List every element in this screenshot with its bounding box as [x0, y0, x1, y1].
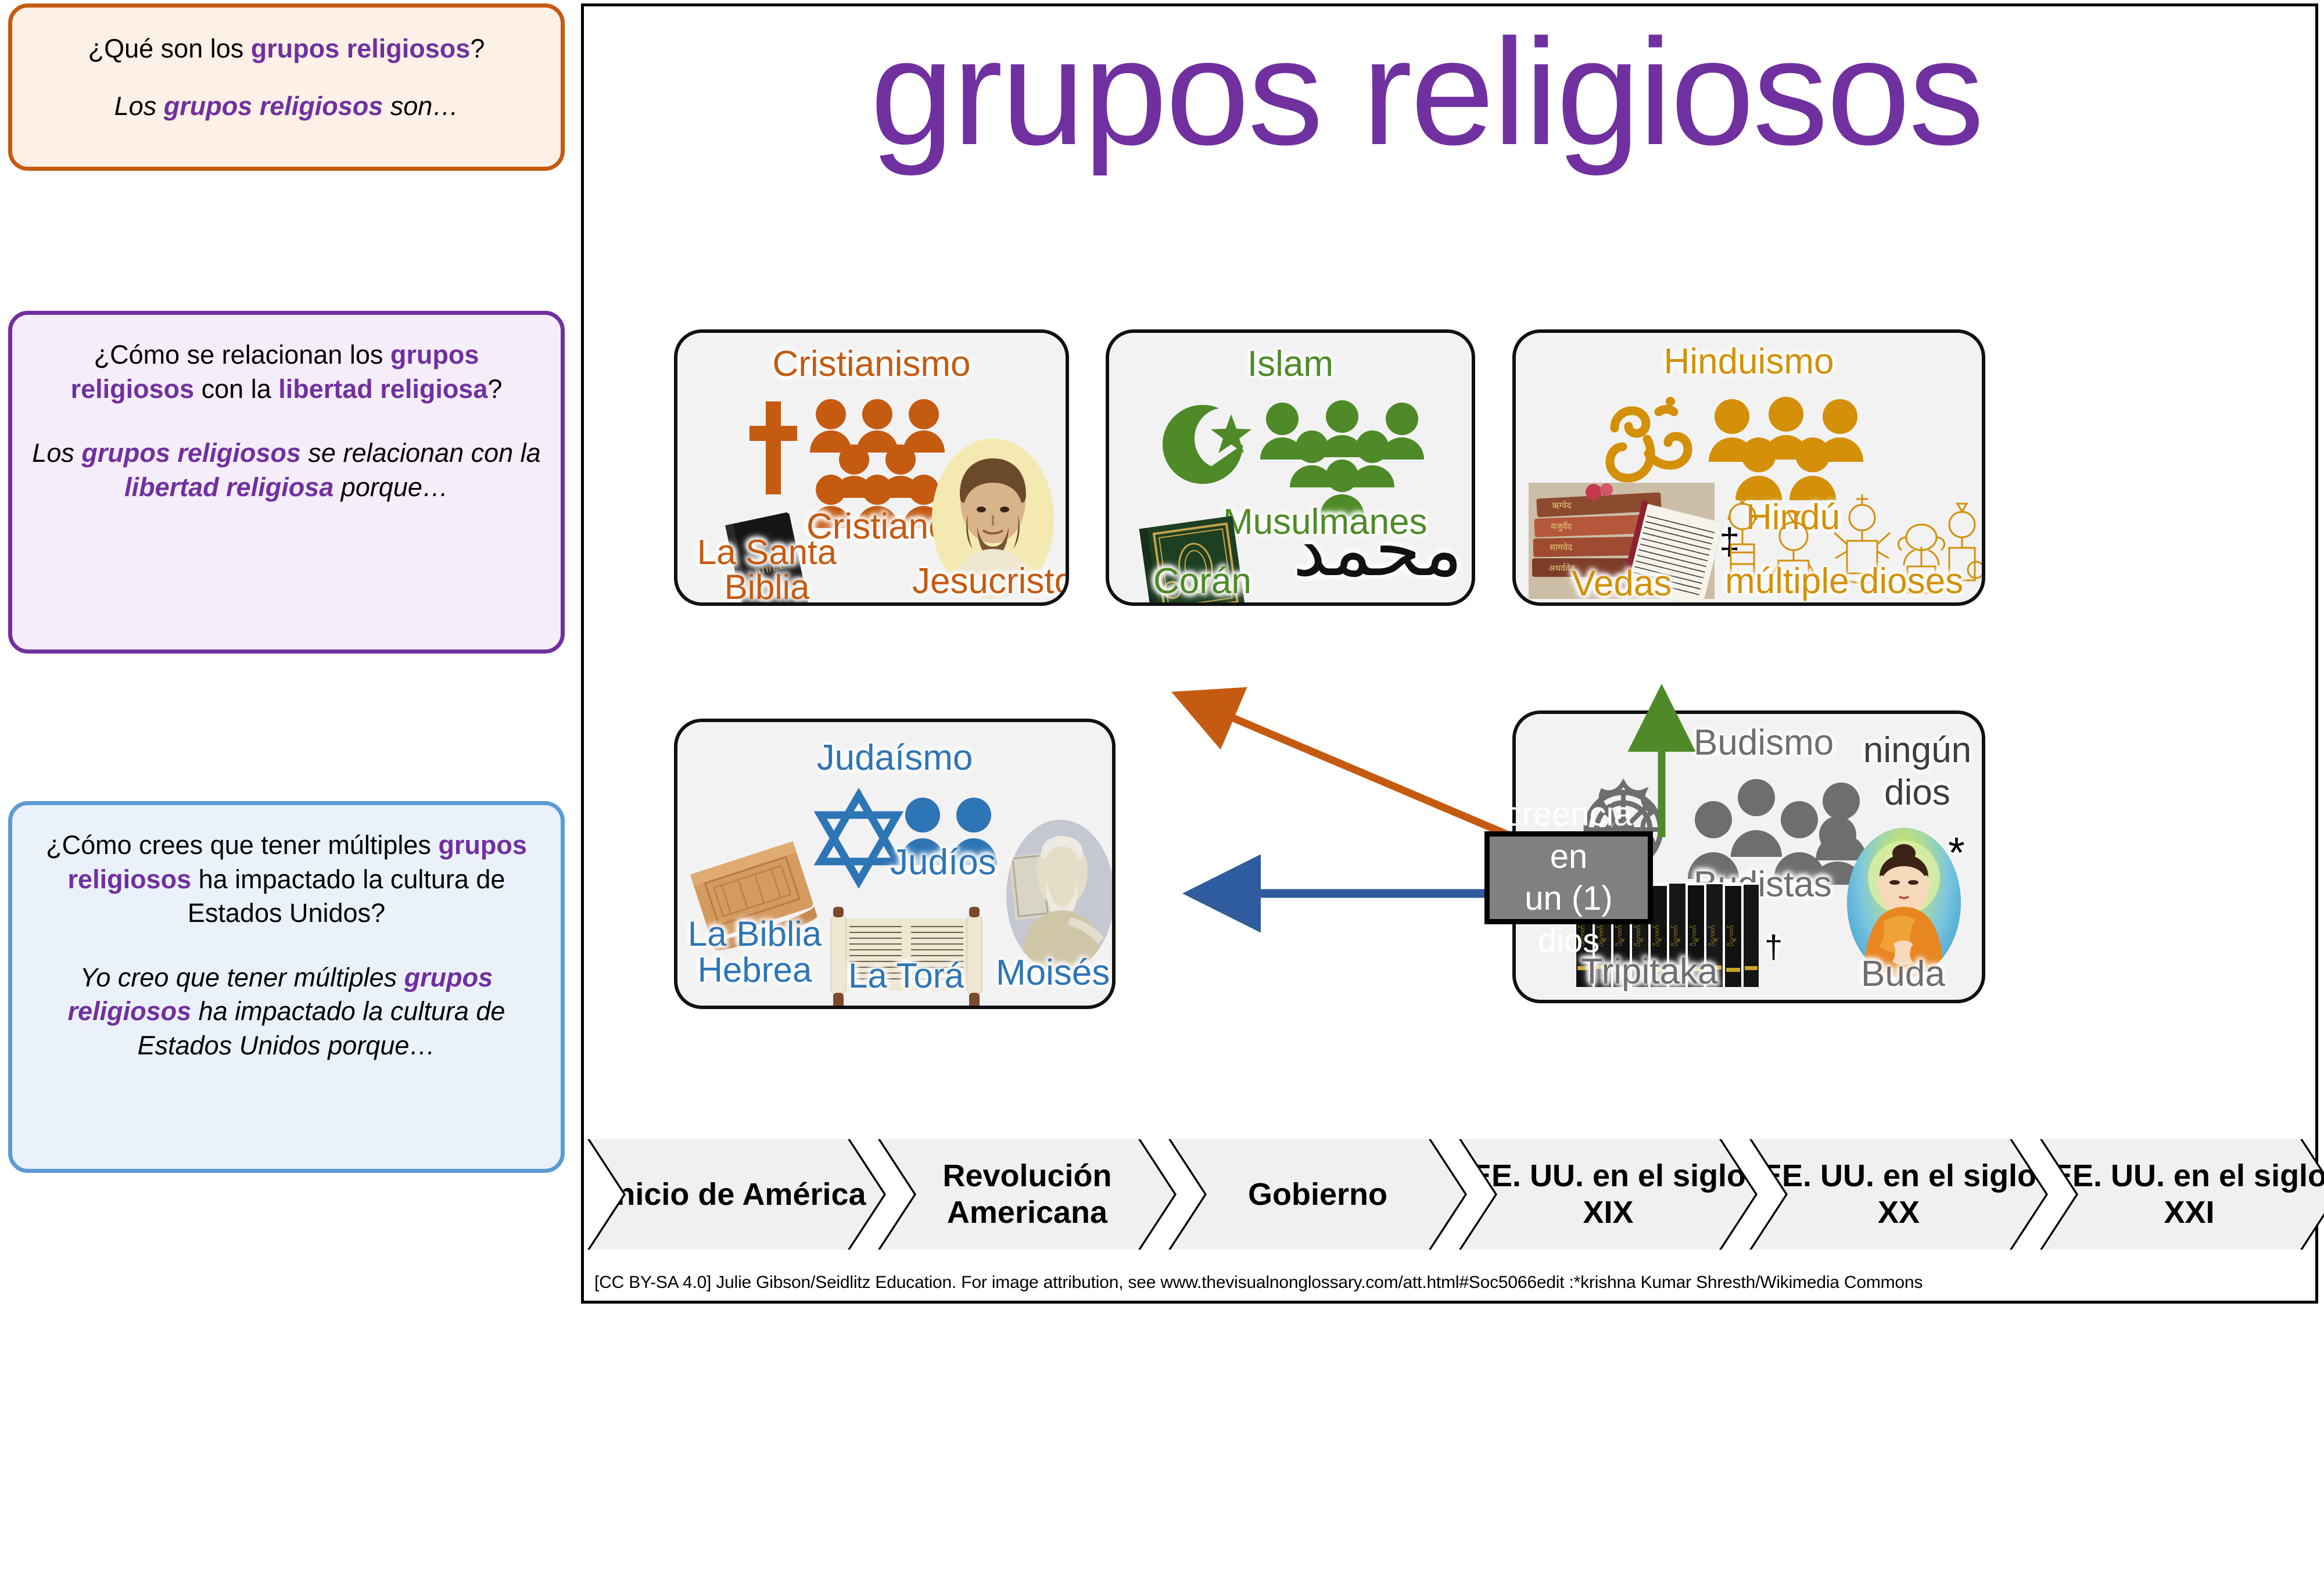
prompt-answer-stem: Los grupos religiosos son… [32, 89, 541, 124]
card-figure-label: Buda [1861, 953, 1945, 995]
a-text: Los [114, 91, 164, 121]
a-text: Los [32, 438, 81, 468]
a-text: Yo creo que tener múltiples [80, 963, 404, 992]
card-religion-label: Judaísmo [817, 737, 973, 778]
timeline-step-2[interactable]: Revolución Americana [880, 1139, 1174, 1250]
card-book-label: La Biblia Hebrea [682, 916, 827, 989]
card-judaism[interactable]: Judaísmo Judíos [674, 719, 1116, 1009]
card-hinduism[interactable]: Hinduismo [1512, 329, 1985, 606]
footnote-marker-tripitaka: † [1764, 928, 1783, 966]
spacer [32, 406, 541, 436]
callout-text: creencia en un (1) dios [1490, 794, 1648, 962]
a-term-2: libertad religiosa [124, 472, 333, 502]
svg-text:सामवेद: सामवेद [1550, 542, 1573, 552]
a-text-end: son… [383, 91, 458, 121]
timeline-step-label: EE. UU. en el siglo XIX [1461, 1158, 1755, 1230]
spacer [32, 66, 541, 89]
q-text: ¿Cómo crees que tener múltiples [46, 830, 438, 860]
card-followers-label: Judíos [890, 842, 996, 883]
card-scroll-label: La Torá [848, 956, 964, 996]
timeline-step-3[interactable]: Gobierno [1171, 1139, 1465, 1250]
card-book-label: Vedas [1572, 563, 1672, 604]
card-figure-label: Jesucristo [912, 561, 1069, 602]
timeline-step-label: Inicio de América [607, 1176, 866, 1213]
a-term-1: grupos religiosos [81, 438, 301, 468]
page-title: grupos religiosos [584, 17, 2269, 168]
card-christianity[interactable]: Cristianismo [674, 329, 1069, 606]
callout-one-god[interactable]: creencia en un (1) dios [1484, 831, 1653, 924]
star-and-crescent-icon [1163, 398, 1261, 491]
people-group-icon [1258, 401, 1426, 518]
timeline-step-label: EE. UU. en el siglo XX [1752, 1158, 2046, 1230]
timeline-step-label: Revolución Americana [880, 1158, 1174, 1230]
timeline-step-label: EE. UU. en el siglo XXI [2042, 1158, 2324, 1230]
prompt-question: ¿Cómo crees que tener múltiples grupos r… [32, 828, 541, 931]
prompt-answer-stem: Los grupos religiosos se relacionan con … [32, 436, 541, 504]
a-text-mid: se relacionan con la [301, 438, 541, 468]
prompt-card-definition: ¿Qué son los grupos religiosos? Los grup… [8, 3, 565, 171]
timeline-step-1[interactable]: Inicio de América [590, 1139, 884, 1250]
a-text-end: ha impactado la cultura de Estados Unido… [138, 996, 505, 1060]
prompt-card-relation: ¿Cómo se relacionan los grupos religioso… [8, 311, 565, 654]
timeline-step-4[interactable]: EE. UU. en el siglo XIX [1461, 1139, 1755, 1250]
footnote-marker-buda: * [1948, 828, 1965, 877]
spacer [32, 931, 541, 961]
vertical-credit-wrap: Credit: †囲碁くずれ, ‡Preethi1830790/Wikimedi… [2293, 540, 2318, 1063]
q-text: ¿Qué son los [88, 34, 251, 63]
vertical-credit-text: Credit: †囲碁くずれ, ‡Preethi1830790/Wikimedi… [2319, 1110, 2324, 1590]
prompt-question: ¿Cómo se relacionan los grupos religioso… [32, 338, 541, 406]
prompt-answer-stem: Yo creo que tener múltiples grupos relig… [32, 961, 541, 1063]
svg-text:यजुर्वेद: यजुर्वेद [1551, 521, 1572, 532]
q-text-end: ? [487, 374, 502, 404]
timeline-step-5[interactable]: EE. UU. en el siglo XX [1752, 1139, 2046, 1250]
svg-text:ऋग्वेद: ऋग्वेद [1552, 500, 1572, 511]
sidebar-prompts: ¿Qué son los grupos religiosos? Los grup… [0, 0, 581, 1307]
callout-line-1: creencia en [1490, 794, 1648, 878]
latin-cross-icon [746, 401, 801, 494]
card-religion-label: Cristianismo [772, 343, 970, 385]
q-text-end: ha impactado la cultura de Estados Unido… [188, 864, 505, 928]
q-text-mid: con la [194, 374, 278, 404]
arrows-layer [584, 6, 2315, 1307]
card-figure-label: múltiple dioses [1725, 561, 1963, 602]
card-book-label: Corán [1153, 561, 1251, 602]
no-god-note-text: ningún dios [1863, 730, 1971, 813]
callout-line-2: un (1) dios [1490, 878, 1648, 962]
timeline-step-6[interactable]: EE. UU. en el siglo XXI [2042, 1139, 2324, 1250]
q-term-2: libertad religiosa [278, 374, 487, 404]
a-term: grupos religiosos [164, 91, 383, 121]
prompt-question: ¿Qué son los grupos religiosos? [32, 32, 541, 66]
main-panel: grupos religiosos Cristianismo [581, 3, 2318, 1304]
timeline-step-label: Gobierno [1248, 1176, 1387, 1213]
card-religion-label: Budismo [1694, 722, 1834, 763]
card-figure-label: Moisés [996, 952, 1110, 993]
a-text-end: porque… [333, 472, 449, 502]
card-book-label: La Santa Biblia [691, 535, 842, 605]
infographic-page: ¿Qué son los grupos religiosos? Los grup… [0, 0, 2324, 1307]
card-islam[interactable]: Islam Musulmanes [1106, 329, 1475, 606]
q-term: grupos religiosos [251, 34, 471, 63]
arrow-to-christianity [1185, 698, 1514, 837]
no-god-note: ningún dios [1856, 729, 1978, 814]
moises-portrait [1006, 820, 1114, 972]
card-religion-label: Islam [1247, 343, 1333, 385]
prompt-card-impact: ¿Cómo crees que tener múltiples grupos r… [8, 801, 565, 1173]
muhammad-calligraphy: محمد [1293, 513, 1462, 587]
card-religion-label: Hinduismo [1664, 341, 1834, 382]
timeline: Inicio de América Revolución Americana G… [587, 1139, 2314, 1250]
attribution-text: [CC BY-SA 4.0] Julie Gibson/Seidlitz Edu… [594, 1273, 2303, 1293]
q-text-end: ? [470, 34, 485, 63]
q-text: ¿Cómo se relacionan los [94, 340, 390, 369]
om-icon [1603, 389, 1696, 487]
